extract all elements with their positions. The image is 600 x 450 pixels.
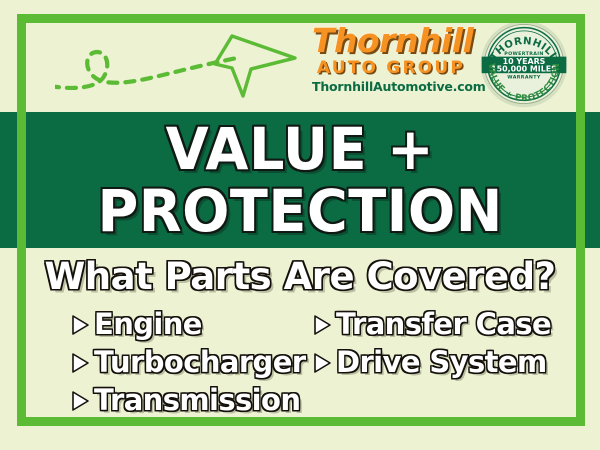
covered-parts-columns: Engine Turbocharger Transmission [0,305,600,419]
list-item-label: Transfer Case [336,308,551,340]
triangle-bullet-icon [310,351,334,375]
covered-parts-column-left: Engine Turbocharger Transmission [0,305,300,419]
list-item: Turbocharger [68,343,300,381]
covered-parts-subheading: What Parts Are Covered? [0,256,600,298]
list-item-label: Drive System [336,346,547,378]
triangle-bullet-icon [68,351,92,375]
dashed-path-arrow-icon [55,20,305,110]
headline-line-1: VALUE + [166,118,435,180]
covered-parts-section: What Parts Are Covered? Engine Turbochar… [0,248,600,450]
list-item: Drive System [310,343,600,381]
list-item: Engine [68,305,300,343]
list-item: Transmission [68,381,300,419]
badge-powertrain-text: POWERTRAIN [504,51,544,57]
poster-headline: VALUE + PROTECTION [0,112,600,248]
triangle-bullet-icon [310,313,334,337]
list-item-label: Engine [94,308,202,340]
logo-website-url: ThornhillAutomotive.com [312,79,470,95]
list-item: Transfer Case [310,305,600,343]
headline-line-2: PROTECTION [97,180,502,242]
poster-header: Thornhill AUTO GROUP ThornhillAutomotive… [0,0,600,112]
badge-warranty-text: WARRANTY [507,75,541,81]
logo-wordmark: Thornhill [312,24,470,58]
warranty-badge-icon: THORNHILL POWERTRAIN 10 YEARS 150,000 MI… [478,18,570,110]
list-item-label: Transmission [94,384,300,416]
logo-subtitle: AUTO GROUP [312,58,470,78]
badge-miles-text: 150,000 MILES [491,65,557,74]
triangle-bullet-icon [68,389,92,413]
list-item-label: Turbocharger [94,346,305,378]
covered-parts-column-right: Transfer Case Drive System [300,305,600,419]
value-protection-poster: Thornhill AUTO GROUP ThornhillAutomotive… [0,0,600,450]
thornhill-logo: Thornhill AUTO GROUP ThornhillAutomotive… [312,24,470,95]
triangle-bullet-icon [68,313,92,337]
